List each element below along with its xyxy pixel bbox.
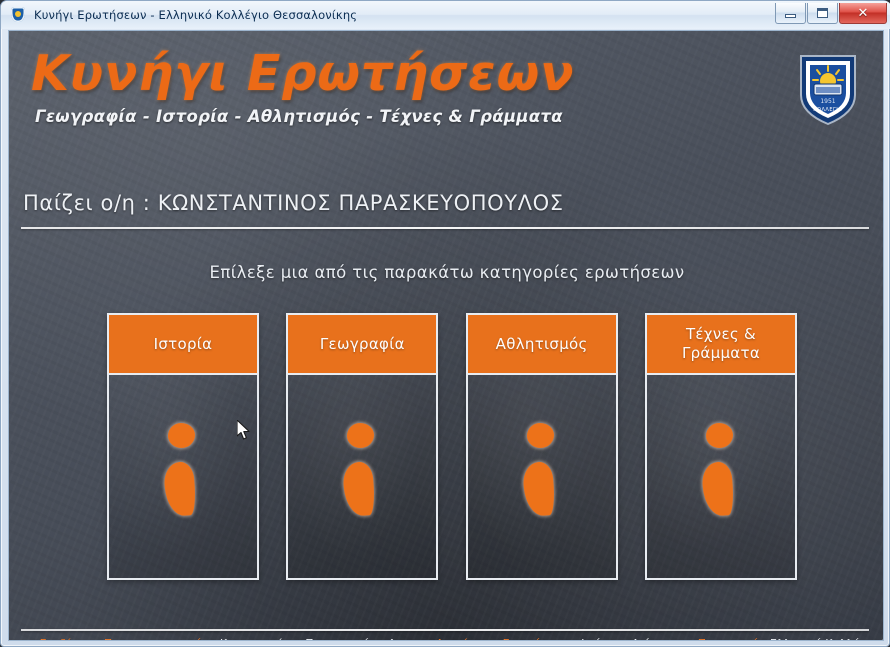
svg-text:ΚΟΛΛΕΓΙΟ: ΚΟΛΛΕΓΙΟ [813,107,842,113]
window-controls: ✕ [775,3,887,24]
window-title: Κυνήγι Ερωτήσεων - Ελληνικό Κολλέγιο Θεσ… [34,8,357,22]
category-card-list: Ιστορία Γεωγραφία Αθλητισμός [107,313,797,581]
minimize-button[interactable] [775,3,806,24]
chalkboard-area: Κυνήγι Ερωτήσεων Γεωγραφία - Ιστορία - Α… [8,30,884,641]
category-card-athlitismos[interactable]: Αθλητισμός [466,313,618,580]
close-button[interactable]: ✕ [839,3,887,24]
category-card-istoria[interactable]: Ιστορία [107,313,259,580]
category-card-body[interactable] [288,375,436,578]
maximize-restore-button[interactable] [807,3,838,24]
player-name-line: Παίζει ο/η : ΚΩΝΣΤΑΝΤΙΝΟΣ ΠΑΡΑΣΚΕΥΟΠΟΥΛΟ… [23,191,564,215]
greek-question-mark-icon [519,423,565,519]
application-window: Κυνήγι Ερωτήσεων - Ελληνικό Κολλέγιο Θεσ… [0,0,890,647]
footer-credits: Σχεδίαση - Προγραμματισμός : Κωνσταντίνο… [39,637,859,641]
credit-value-questions: Ιωάννης Λιάρης [580,637,671,641]
category-card-technes-grammata[interactable]: Τέχνες & Γράμματα [645,313,797,580]
greek-question-mark-icon [698,423,744,519]
category-card-body[interactable] [647,375,795,578]
hellenic-college-crest-icon: 1951 ΚΟΛΛΕΓΙΟ [797,53,859,127]
greek-question-mark-icon [339,423,385,519]
footer-divider [21,629,869,631]
app-shield-icon [10,7,26,23]
header-divider [21,227,869,229]
category-card-title: Τέχνες & Γράμματα [647,315,795,375]
category-prompt: Επίλεξε μια από τις παρακάτω κατηγορίες … [9,263,884,282]
credit-value-design: Κωνσταντίνος Παρασκευόπουλος [219,637,409,641]
greek-question-mark-icon [160,423,206,519]
game-logo-subtitle: Γεωγραφία - Ιστορία - Αθλητισμός - Τέχνε… [35,107,563,126]
category-card-title: Αθλητισμός [468,315,616,375]
category-card-title: Ιστορία [109,315,257,375]
credit-label-questions: Διατύπωση Ερωτήσεων : [435,637,576,641]
category-card-body[interactable] [468,375,616,578]
category-card-title: Γεωγραφία [288,315,436,375]
category-card-geografia[interactable]: Γεωγραφία [286,313,438,580]
game-logo-title: Κυνήγι Ερωτήσεων [31,45,575,102]
credit-value-production: Ελληνικό Κολλέγιο Θεσσαλονίκης - © 2013 [769,637,884,641]
credit-label-design: Σχεδίαση - Προγραμματισμός : [39,637,215,641]
title-bar[interactable]: Κυνήγι Ερωτήσεων - Ελληνικό Κολλέγιο Θεσ… [1,1,890,29]
credit-label-production: Παραγωγή : [697,637,765,641]
category-card-body[interactable] [109,375,257,578]
svg-text:1951: 1951 [820,98,835,105]
